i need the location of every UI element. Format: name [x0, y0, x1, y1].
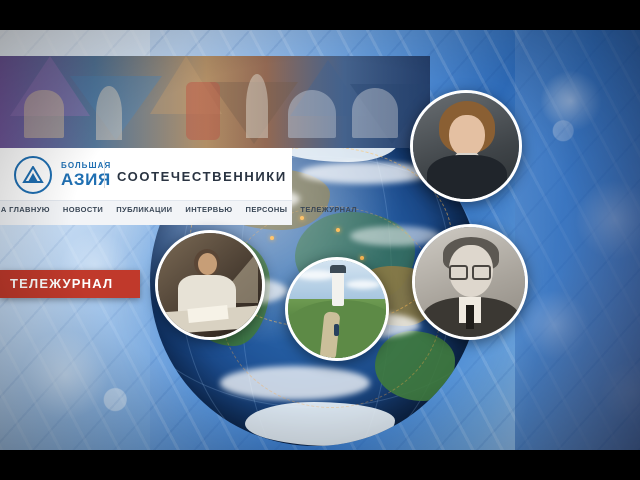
section-title: СООТЕЧЕСТВЕННИКИ: [117, 169, 287, 184]
telejournal-ribbon-label: ТЕЛЕЖУРНАЛ: [10, 276, 113, 291]
letterbox-bottom: [0, 450, 640, 480]
portrait-sepia-man-at-desk: [155, 230, 265, 340]
portrait-woman-interview: [410, 90, 522, 202]
photo-lighthouse-landscape: [285, 257, 389, 361]
nav-item-publications[interactable]: ПУБЛИКАЦИИ: [115, 205, 173, 214]
portrait-vintage-man: [412, 224, 528, 340]
letterbox-top: [0, 0, 640, 30]
nav-item-home[interactable]: НА ГЛАВНУЮ: [0, 205, 51, 214]
site-nav-list[interactable]: НА ГЛАВНУЮ НОВОСТИ ПУБЛИКАЦИИ ИНТЕРВЬЮ П…: [0, 205, 358, 214]
right-blue-band: [515, 30, 640, 450]
nav-item-interviews[interactable]: ИНТЕРВЬЮ: [184, 205, 233, 214]
site-logo[interactable]: БОЛЬШАЯ АЗИЯ: [14, 156, 111, 194]
mountain-peak-icon: [14, 156, 52, 194]
nav-item-persons[interactable]: ПЕРСОНЫ: [245, 205, 289, 214]
logo-divider: [104, 160, 105, 188]
architecture-mosaic-banner: [0, 56, 430, 148]
nav-item-telejournal[interactable]: ТЕЛЕЖУРНАЛ: [299, 205, 358, 214]
nav-item-news[interactable]: НОВОСТИ: [62, 205, 104, 214]
video-frame: БОЛЬШАЯ АЗИЯ СООТЕЧЕСТВЕННИКИ НА ГЛАВНУЮ…: [0, 0, 640, 480]
video-stage: БОЛЬШАЯ АЗИЯ СООТЕЧЕСТВЕННИКИ НА ГЛАВНУЮ…: [0, 30, 640, 450]
